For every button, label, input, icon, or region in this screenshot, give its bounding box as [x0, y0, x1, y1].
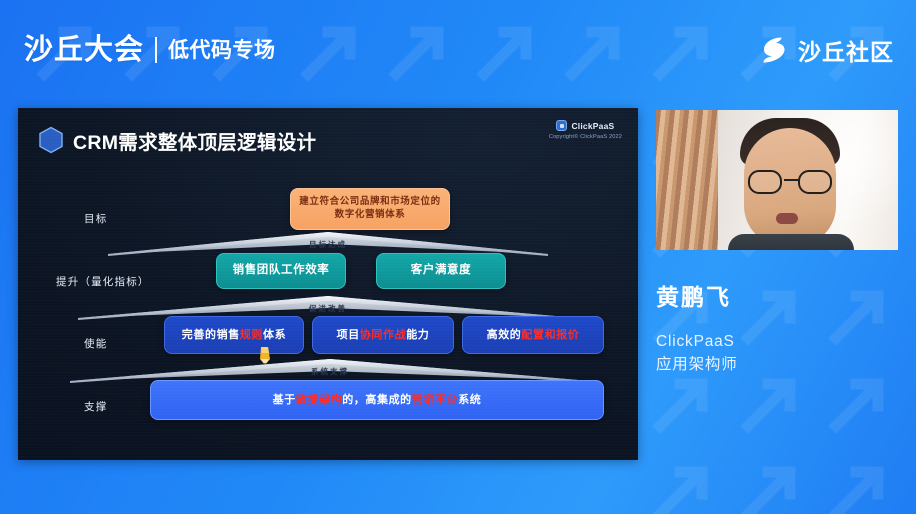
sand-dune-s-logo-icon [759, 34, 789, 66]
foundation-box-text: 基于敏捷架构的，高集成的营销平台系统 [273, 393, 482, 408]
connector-goal-achievement-label: 目标达成 [108, 239, 548, 250]
slide-title: CRM需求整体顶层逻辑设计 [73, 126, 316, 155]
hexagon-icon [38, 126, 64, 154]
connector-promote-improvement-label: 促进改善 [78, 303, 578, 314]
presentation-slide[interactable]: CRM需求整体顶层逻辑设计 ClickPaaS Copyright© Click… [18, 108, 638, 460]
presenter-glasses-icon [746, 170, 834, 194]
slide-logo-name: ClickPaaS [571, 121, 614, 131]
goal-box-text: 建立符合公司品牌和市场定位的数字化营销体系 [299, 196, 441, 222]
page-header: 沙丘大会 低代码专场 沙丘社区 [0, 0, 916, 100]
screen: 沙丘大会 低代码专场 沙丘社区 CRM需求整体顶层逻辑设计 ClickPaaS … [0, 0, 916, 514]
presenter-mouth [776, 213, 798, 224]
slide-header: CRM需求整体顶层逻辑设计 [38, 118, 626, 162]
slide-copyright: Copyright© ClickPaaS 2022 [549, 134, 622, 140]
enabler-box-sales-rules-text: 完善的销售规则体系 [182, 328, 286, 343]
speaker-info: 黄鹏飞 ClickPaaS 应用架构师 [656, 278, 906, 377]
connector-system-support-label: 系统支撑 [70, 366, 590, 377]
speaker-company: ClickPaaS [656, 330, 906, 353]
row-label-improve: 提升（量化指标） [56, 274, 150, 289]
enabler-box-configure-quote-text: 高效的配置和报价 [487, 328, 580, 343]
enabler-box-configure-quote[interactable]: 高效的配置和报价 [462, 316, 604, 354]
speaker-role: 应用架构师 [656, 353, 906, 376]
row-label-support: 支撑 [84, 399, 107, 414]
clickpaas-logo-icon [556, 120, 567, 131]
row-label-enable: 使能 [84, 336, 107, 351]
goal-box[interactable]: 建立符合公司品牌和市场定位的数字化营销体系 [290, 188, 450, 230]
conference-track-title: 低代码专场 [168, 40, 276, 61]
community-logo-text: 沙丘社区 [798, 33, 894, 67]
foundation-box-marketing-platform[interactable]: 基于敏捷架构的，高集成的营销平台系统 [150, 380, 604, 420]
header-divider [155, 37, 157, 63]
metric-box-sales-efficiency-text: 销售团队工作效率 [233, 263, 330, 279]
row-label-goal: 目标 [84, 211, 107, 226]
presenter-webcam-video[interactable] [656, 110, 898, 250]
metric-box-customer-satisfaction[interactable]: 客户满意度 [376, 253, 506, 289]
brand-left: 沙丘大会 低代码专场 [24, 36, 276, 65]
conference-title: 沙丘大会 [24, 36, 144, 65]
speaker-name: 黄鹏飞 [656, 278, 906, 312]
enabler-box-collaboration-text: 项目协同作战能力 [337, 328, 430, 343]
enabler-box-collaboration[interactable]: 项目协同作战能力 [312, 316, 454, 354]
slide-logo: ClickPaaS Copyright© ClickPaaS 2022 [549, 120, 622, 140]
metric-box-customer-satisfaction-text: 客户满意度 [411, 263, 472, 279]
metric-box-sales-efficiency[interactable]: 销售团队工作效率 [216, 253, 346, 289]
brand-right: 沙丘社区 [759, 33, 894, 67]
video-wood-slats [656, 110, 718, 250]
presenter-torso [728, 234, 854, 250]
enabler-box-sales-rules[interactable]: 完善的销售规则体系 [164, 316, 304, 354]
